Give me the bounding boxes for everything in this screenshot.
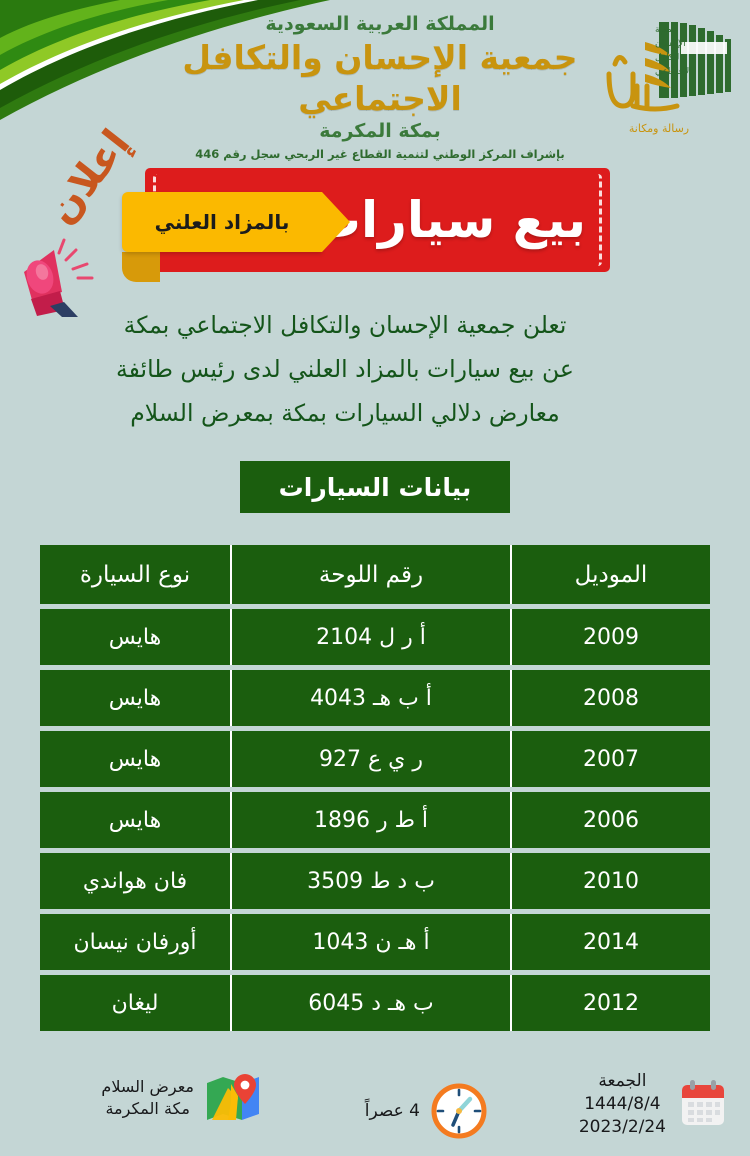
- city-line: بمكة المكرمة: [170, 120, 590, 142]
- footer-time-text: 4 عصراً: [365, 1100, 420, 1123]
- cell-model: 2007: [510, 731, 710, 787]
- body-line-2: عن بيع سيارات بالمزاد العلني لدى رئيس طا…: [60, 347, 630, 391]
- cell-model: 2008: [510, 670, 710, 726]
- table-title: بيانات السيارات: [240, 461, 510, 513]
- calendar-icon: [676, 1077, 730, 1131]
- cell-model: 2006: [510, 792, 710, 848]
- event-gregorian-date: 2023/2/24: [579, 1116, 666, 1139]
- column-header-plate: رقم اللوحة: [230, 545, 510, 604]
- auction-ribbon-tag: بالمزاد العلني: [122, 192, 322, 252]
- footer-date-block: الجمعة 1444/8/4 2023/2/24: [579, 1070, 730, 1139]
- cell-model: 2009: [510, 609, 710, 665]
- event-hijri-date: 1444/8/4: [579, 1093, 666, 1116]
- poster-footer: الجمعة 1444/8/4 2023/2/24 4 عصراً: [0, 1068, 750, 1156]
- table-row: 2006 أ ط ر 1896 هايس: [40, 792, 710, 848]
- cell-type: هايس: [40, 731, 230, 787]
- table-row: 2014 أ هـ ن 1043 أورفان نيسان: [40, 914, 710, 970]
- supervision-line: بإشراف المركز الوطني لتنمية القطاع غير ا…: [170, 147, 590, 161]
- cell-type: أورفان نيسان: [40, 914, 230, 970]
- column-header-model: الموديل: [510, 545, 710, 604]
- table-row: 2009 أ ر ل 2104 هايس: [40, 609, 710, 665]
- banner-title: بيع سيارات: [311, 191, 586, 249]
- ribbon-label: بالمزاد العلني: [155, 210, 290, 234]
- cars-data-table: الموديل رقم اللوحة نوع السيارة 2009 أ ر …: [40, 540, 710, 1036]
- ribbon-fold: [122, 252, 160, 282]
- body-line-3: معارض دلالي السيارات بمكة بمعرض السلام: [60, 391, 630, 435]
- column-header-type: نوع السيارة: [40, 545, 230, 604]
- table-header-row: الموديل رقم اللوحة نوع السيارة: [40, 545, 710, 604]
- table-row: 2010 ب د ط 3509 فان هواندي: [40, 853, 710, 909]
- body-line-1: تعلن جمعية الإحسان والتكافل الاجتماعي بم…: [60, 303, 630, 347]
- cell-type: هايس: [40, 609, 230, 665]
- clock-icon: [430, 1082, 488, 1140]
- cell-plate: ب هـ د 6045: [230, 975, 510, 1031]
- cell-plate: أ ب هـ 4043: [230, 670, 510, 726]
- cell-type: هايس: [40, 670, 230, 726]
- cell-plate: أ ر ل 2104: [230, 609, 510, 665]
- organization-titles: المملكة العربية السعودية جمعية الإحسان و…: [170, 14, 590, 161]
- table-row: 2007 ر ي ع 927 هايس: [40, 731, 710, 787]
- cell-model: 2012: [510, 975, 710, 1031]
- footer-place-block: معرض السلام مكة المكرمة: [101, 1072, 262, 1124]
- association-name: جمعية الإحسان والتكافل الاجتماعي: [170, 37, 590, 120]
- cell-type: فان هواندي: [40, 853, 230, 909]
- map-location-icon: [204, 1072, 262, 1124]
- cell-model: 2014: [510, 914, 710, 970]
- footer-place-text: معرض السلام مكة المكرمة: [101, 1076, 194, 1119]
- svg-text:رسالة ومكانة: رسالة ومكانة: [629, 122, 689, 135]
- cell-plate: ر ي ع 927: [230, 731, 510, 787]
- cell-type: ليغان: [40, 975, 230, 1031]
- cell-plate: أ هـ ن 1043: [230, 914, 510, 970]
- kingdom-line: المملكة العربية السعودية: [170, 14, 590, 35]
- cell-plate: أ ط ر 1896: [230, 792, 510, 848]
- venue-name: معرض السلام: [101, 1076, 194, 1098]
- poster-header: المملكة العربية السعودية جمعية الإحسان و…: [0, 0, 750, 148]
- svg-text:الإحسان: الإحسان: [655, 39, 686, 49]
- footer-date-text: الجمعة 1444/8/4 2023/2/24: [579, 1070, 666, 1139]
- announcement-body: تعلن جمعية الإحسان والتكافل الاجتماعي بم…: [60, 303, 630, 436]
- footer-time-block: 4 عصراً: [365, 1082, 488, 1140]
- cell-model: 2010: [510, 853, 710, 909]
- svg-text:والتكافل: والتكافل: [655, 53, 686, 63]
- event-day: الجمعة: [579, 1070, 666, 1093]
- venue-city: مكة المكرمة: [101, 1098, 194, 1120]
- cell-plate: ب د ط 3509: [230, 853, 510, 909]
- table-row: 2012 ب هـ د 6045 ليغان: [40, 975, 710, 1031]
- ehsan-association-logo: جمعية الإحسان والتكافل الاجتماعي رسالة و…: [585, 12, 733, 140]
- svg-text:الاجتماعي: الاجتماعي: [655, 67, 692, 77]
- svg-text:جمعية: جمعية: [655, 25, 678, 35]
- cell-type: هايس: [40, 792, 230, 848]
- table-row: 2008 أ ب هـ 4043 هايس: [40, 670, 710, 726]
